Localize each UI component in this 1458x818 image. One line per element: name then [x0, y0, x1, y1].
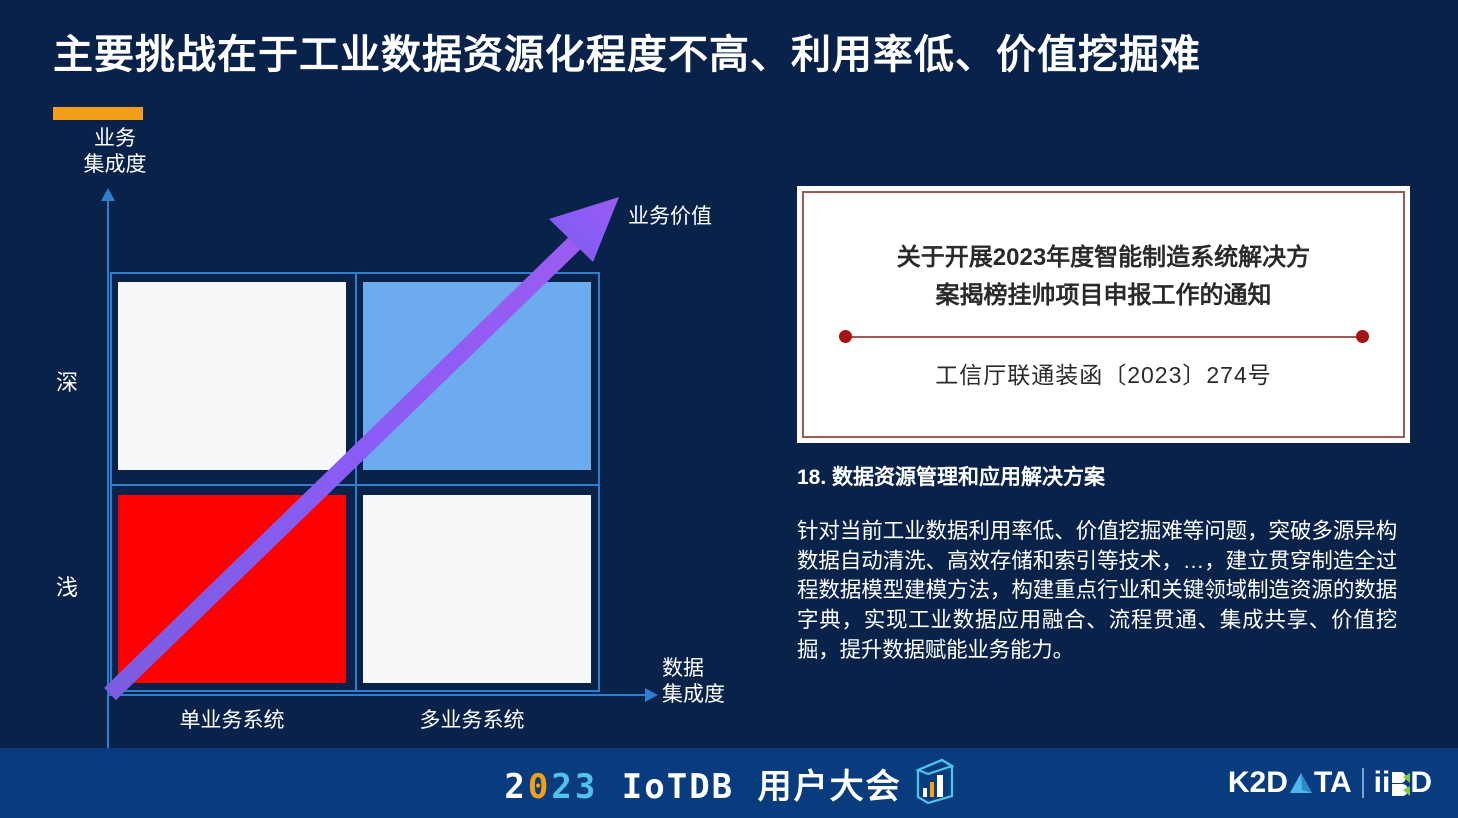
quadrant-cell-shallow-single [118, 495, 346, 683]
footer-bar: 2023 IoTDB 用户大会 K2DTA iiD [0, 748, 1458, 818]
notice-divider-bar [845, 336, 1363, 338]
quadrant-cell-shallow-multi [363, 495, 591, 683]
quadrant-cell-deep-single [118, 282, 346, 470]
quadrant-chart: 业务 集成度 数据 集成度 深 浅 单业务系统 多业务系统 [0, 140, 800, 750]
conference-year-digit-1: 2 [504, 767, 527, 807]
notice-title-line-2: 案揭榜挂帅项目申报工作的通知 [897, 277, 1310, 314]
brand-iibd-suffix: D [1410, 766, 1432, 800]
x-axis-line [107, 694, 647, 696]
notice-divider [839, 330, 1369, 344]
column-label-multi-system: 多业务系统 [352, 704, 592, 734]
quadrant-grid-horizontal-divider [110, 484, 600, 486]
brand-iibd: iiD [1374, 766, 1432, 800]
notice-card: 关于开展2023年度智能制造系统解决方 案揭榜挂帅项目申报工作的通知 工信厅联通… [797, 186, 1410, 443]
section-body-text: 针对当前工业数据利用率低、价值挖掘难等问题，突破多源异构数据自动清洗、高效存储和… [797, 517, 1397, 665]
x-axis-label: 数据 集成度 [662, 656, 772, 709]
y-axis-line [107, 198, 109, 818]
section-heading: 18. 数据资源管理和应用解决方案 [797, 461, 1410, 491]
notice-card-inner: 关于开展2023年度智能制造系统解决方 案揭榜挂帅项目申报工作的通知 工信厅联通… [802, 191, 1405, 438]
brand-k2data-suffix: TA [1314, 766, 1352, 800]
conference-title: 2023 IoTDB 用户大会 [504, 759, 901, 808]
brand-k2data: K2DTA [1228, 766, 1352, 800]
row-label-deep: 深 [47, 365, 87, 397]
notice-title-line-1: 关于开展2023年度智能制造系统解决方 [897, 239, 1310, 276]
notice-divider-dot-left [839, 330, 852, 343]
conference-product-name: IoTDB [622, 767, 734, 807]
brand-k2data-prefix: K2D [1228, 766, 1288, 800]
y-axis-label-line2: 集成度 [60, 152, 170, 178]
page-title: 主要挑战在于工业数据资源化程度不高、利用率低、价值挖掘难 [53, 30, 1393, 80]
notice-title: 关于开展2023年度智能制造系统解决方 案揭榜挂帅项目申报工作的通知 [897, 239, 1310, 313]
brand-divider [1362, 768, 1364, 798]
notice-divider-dot-right [1356, 330, 1369, 343]
quadrant-cell-deep-multi [363, 282, 591, 470]
quadrant-grid-vertical-divider [355, 272, 357, 692]
notice-document-number: 工信厅联通装函〔2023〕274号 [935, 356, 1272, 390]
row-label-shallow: 浅 [47, 570, 87, 602]
brand-k2data-triangle-icon [1288, 766, 1314, 800]
y-axis-label-line1: 业务 [60, 126, 170, 152]
iotdb-logo-icon [912, 758, 954, 809]
slide-root: 主要挑战在于工业数据资源化程度不高、利用率低、价值挖掘难 业务 集成度 数据 集… [0, 0, 1458, 818]
right-column: 关于开展2023年度智能制造系统解决方 案揭榜挂帅项目申报工作的通知 工信厅联通… [797, 186, 1410, 665]
title-accent-rule [53, 107, 143, 120]
business-value-label: 业务价值 [628, 200, 712, 230]
conference-event-name: 用户大会 [758, 768, 902, 806]
column-label-single-system: 单业务系统 [112, 704, 352, 734]
x-axis-label-line1: 数据 [662, 656, 772, 682]
brand-iibd-b-icon [1390, 766, 1410, 800]
x-axis-arrow-icon [645, 688, 658, 702]
conference-year-digits-34: 23 [551, 767, 598, 807]
y-axis-label: 业务 集成度 [60, 126, 170, 179]
x-axis-label-line2: 集成度 [662, 682, 772, 708]
conference-year-digit-2: 0 [528, 767, 551, 807]
brand-logos: K2DTA iiD [1228, 748, 1432, 818]
brand-iibd-prefix: ii [1374, 766, 1391, 800]
